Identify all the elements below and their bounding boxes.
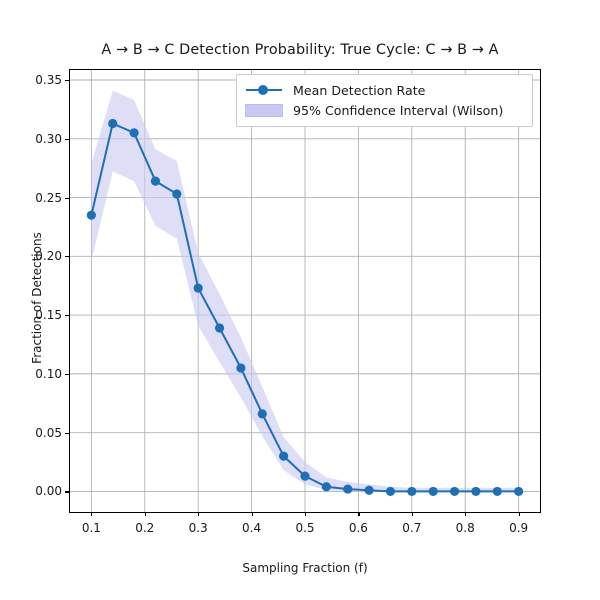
x-axis-label: Sampling Fraction (f) — [69, 561, 541, 575]
data-point — [151, 176, 160, 185]
data-point — [386, 487, 395, 496]
chart-figure: A → B → C Detection Probability: True Cy… — [0, 0, 600, 600]
y-tick-mark — [65, 139, 69, 140]
data-point — [279, 452, 288, 461]
y-tick-label: 0.00 — [35, 484, 62, 498]
x-tick-label: 0.4 — [242, 521, 261, 535]
x-tick-mark — [519, 512, 520, 516]
data-point — [172, 189, 181, 198]
y-tick-mark — [65, 198, 69, 199]
plot-area — [69, 69, 541, 513]
y-axis-label: Fraction of Detections — [30, 173, 44, 423]
x-tick-label: 0.8 — [456, 521, 475, 535]
plot-svg — [70, 70, 540, 512]
y-tick-label: 0.05 — [35, 426, 62, 440]
data-point — [194, 283, 203, 292]
data-point — [236, 363, 245, 372]
y-tick-mark — [65, 433, 69, 434]
x-tick-mark — [91, 512, 92, 516]
y-tick-mark — [65, 256, 69, 257]
x-tick-mark — [465, 512, 466, 516]
data-point — [364, 486, 373, 495]
y-tick-label: 0.35 — [35, 73, 62, 87]
x-tick-mark — [252, 512, 253, 516]
data-point — [258, 409, 267, 418]
data-point — [493, 487, 502, 496]
y-tick-label: 0.30 — [35, 132, 62, 146]
data-point — [108, 119, 117, 128]
y-tick-mark — [65, 374, 69, 375]
legend-line-marker-icon — [244, 81, 284, 99]
x-tick-mark — [358, 512, 359, 516]
x-tick-mark — [198, 512, 199, 516]
legend-band-swatch-icon — [244, 101, 284, 119]
data-point — [450, 487, 459, 496]
x-tick-mark — [305, 512, 306, 516]
data-point — [407, 487, 416, 496]
data-point — [429, 487, 438, 496]
chart-title: A → B → C Detection Probability: True Cy… — [0, 42, 600, 58]
data-point — [87, 211, 96, 220]
data-point — [514, 487, 523, 496]
x-tick-mark — [145, 512, 146, 516]
data-point — [129, 128, 138, 137]
data-point — [471, 487, 480, 496]
data-point — [215, 323, 224, 332]
x-tick-mark — [412, 512, 413, 516]
y-tick-mark — [65, 80, 69, 81]
data-point — [343, 484, 352, 493]
x-tick-label: 0.2 — [135, 521, 154, 535]
x-tick-label: 0.7 — [402, 521, 421, 535]
legend-item-mean: Mean Detection Rate — [244, 80, 525, 100]
data-point — [322, 482, 331, 491]
y-tick-mark — [65, 491, 69, 492]
legend-item-confidence-interval: 95% Confidence Interval (Wilson) — [244, 100, 525, 120]
x-tick-label: 0.1 — [82, 521, 101, 535]
y-tick-mark — [65, 315, 69, 316]
x-tick-label: 0.9 — [509, 521, 528, 535]
x-tick-label: 0.3 — [189, 521, 208, 535]
chart-legend: Mean Detection Rate 95% Confidence Inter… — [236, 74, 533, 127]
legend-label-confidence-interval: 95% Confidence Interval (Wilson) — [293, 103, 503, 118]
data-point — [300, 472, 309, 481]
x-tick-label: 0.6 — [349, 521, 368, 535]
x-tick-label: 0.5 — [295, 521, 314, 535]
legend-label-mean: Mean Detection Rate — [293, 83, 425, 98]
